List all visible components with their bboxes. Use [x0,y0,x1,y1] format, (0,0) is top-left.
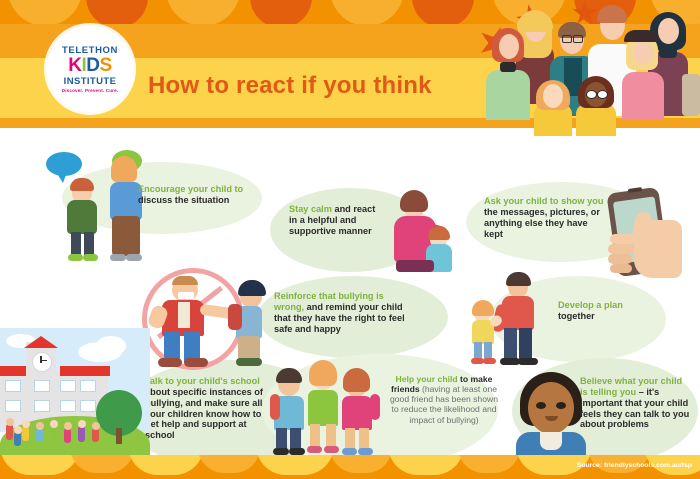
playing-child-head [22,420,30,428]
logo-letter-s: S [100,55,112,76]
parent-walking-illustration [462,270,554,366]
tip-8-green-text: Believe what your child is telling you [580,376,682,397]
tip-1-green-text: Encourage your child to [138,184,243,194]
hand-phone-illustration [604,186,696,282]
tip-believe-child: Believe what your child is telling you –… [580,376,692,430]
playing-child [36,428,43,442]
logo-tagline: Discover. Prevent. Cure. [62,88,118,93]
tip-ask-to-show: Ask your child to show you the messages,… [484,196,604,239]
playing-child-head [14,426,22,434]
tip-7-green-text: Help your child [396,374,460,384]
tip-3-green-text: Ask your child to show you [484,196,603,206]
tip-encourage-discuss: Encourage your child to discuss the situ… [138,184,250,206]
window [80,380,96,392]
playing-child [92,428,99,442]
window [80,400,96,412]
headline-1-text: How to react if you think [148,72,432,100]
school-roof-right [60,366,110,376]
tip-6-dark-text: about specific instances of bullying, an… [145,387,263,440]
playing-child-head [64,422,72,430]
playing-child [14,432,21,446]
parent-child-talk-illustration [14,152,134,262]
logo-letter-k: K [68,55,81,76]
telethon-kids-institute-logo: TELETHON KIDS INSTITUTE Discover. Preven… [47,26,133,112]
window [60,380,76,392]
school-clock [32,352,52,372]
playing-child-head [50,420,58,428]
logo-letter-d: D [86,55,99,76]
tip-reinforce-wrong: Reinforce that bullying is wrong, and re… [274,291,416,334]
tip-5-dark-text: together [558,311,595,321]
playing-child [22,426,29,441]
window [5,400,21,412]
mother-comforting-illustration [388,190,468,272]
window [34,400,50,412]
tip-1-dark-text: discuss the situation [138,195,229,205]
infographic-poster: How to react if you think your child is … [0,0,700,479]
tip-make-friends: Help your child to make friends (having … [390,374,498,425]
window [34,380,50,392]
tip-2-green-text: Stay calm [289,204,334,214]
playing-child-head [78,420,86,428]
source-credit: Source: friendlyschools.com.au/fsp [577,462,692,469]
tip-5-green-text: Develop a plan [558,300,623,310]
window [5,380,21,392]
people-group-illustration [476,0,700,136]
bully-no-sign-illustration [140,264,280,378]
cloud-2 [96,336,126,356]
tip-develop-plan: Develop a plan together [558,300,628,322]
playing-child-head [6,418,14,426]
playing-child [6,424,13,440]
tip-6-green-text: Talk to your child's school [145,376,260,386]
playing-child-head [36,422,44,430]
three-friends-illustration [272,358,382,462]
tip-talk-to-school: Talk to your child's school about specif… [145,376,265,441]
playing-child [64,428,71,443]
playing-child [78,426,85,442]
playing-child [50,426,57,442]
tip-3-dark-text: the messages, pictures, or anything else… [484,207,600,239]
school-building-illustration [0,328,150,458]
playing-child-head [92,422,100,430]
logo-line-institute: INSTITUTE [64,76,117,87]
window [60,400,76,412]
tip-stay-calm: Stay calm and react in a helpful and sup… [289,204,385,237]
logo-line-kids: KIDS [68,57,111,75]
